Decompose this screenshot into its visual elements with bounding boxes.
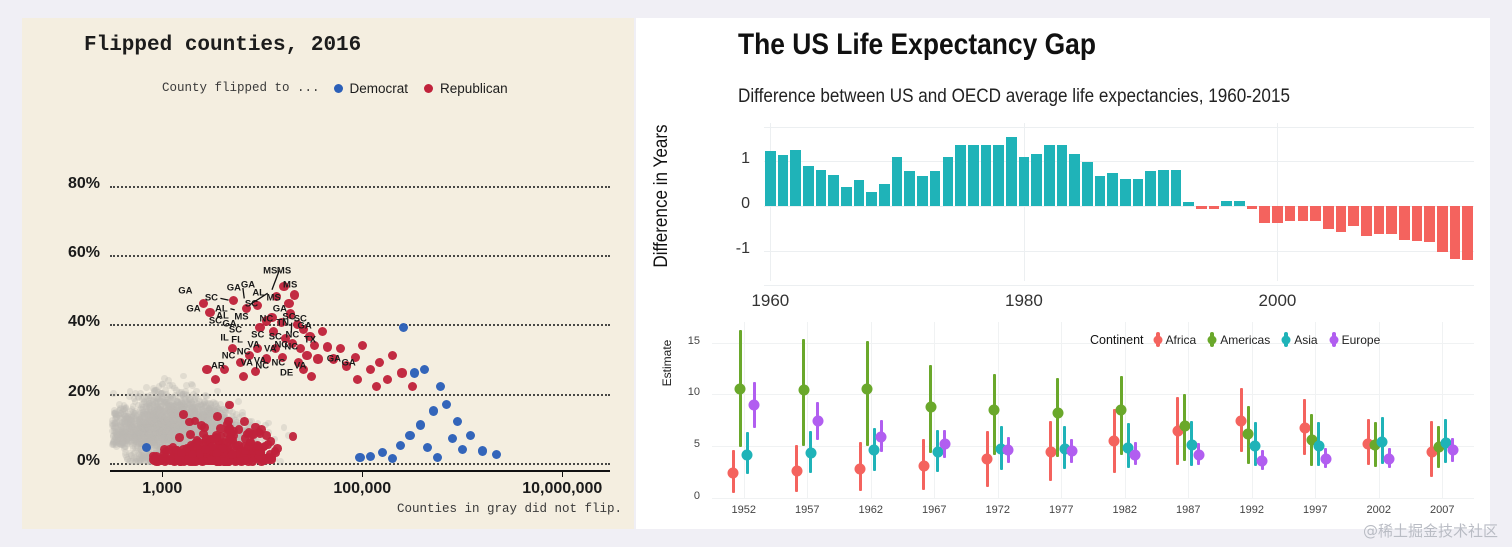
republican-flip-point <box>245 428 254 437</box>
republican-flip-point <box>246 438 255 447</box>
y-tick-label: 40% <box>68 313 100 331</box>
democrat-flip-point <box>478 446 487 455</box>
estimate-point <box>939 439 950 450</box>
republican-flip-point <box>179 410 188 419</box>
dot-x-tick-label: 2002 <box>1367 504 1391 516</box>
gray-county-point <box>111 407 118 414</box>
life-expectancy-subtitle: Difference between US and OECD average l… <box>738 86 1290 108</box>
bar-y-axis-label: Difference in Years <box>651 115 673 277</box>
dot-x-tick-label: 1972 <box>986 504 1010 516</box>
gap-bar <box>854 180 865 206</box>
republican-flip-point <box>366 365 375 374</box>
state-annotation: NC <box>272 357 286 368</box>
dot-x-tick-label: 1997 <box>1303 504 1327 516</box>
republican-flip-point <box>225 425 234 434</box>
dot-x-tick-label: 1987 <box>1176 504 1200 516</box>
gap-bar <box>1247 206 1258 209</box>
gap-bar-chart: Difference in Years -101196019802000 <box>636 123 1490 303</box>
gray-county-point <box>235 398 242 405</box>
state-annotation: NC <box>260 314 274 325</box>
screenshot-root: Flipped counties, 2016 County flipped to… <box>0 0 1512 547</box>
gap-bar <box>1374 206 1385 234</box>
dot-gridline <box>712 498 1474 499</box>
dot-gridline-vertical <box>1379 322 1380 498</box>
dot-x-tick-label: 1957 <box>795 504 819 516</box>
gap-bar <box>1348 206 1359 226</box>
gap-bar <box>1057 145 1068 206</box>
state-annotation: TX <box>304 335 316 346</box>
dot-gridline-vertical <box>807 322 808 498</box>
dot-y-tick-label: 5 <box>676 438 700 450</box>
gap-bar <box>1209 206 1220 209</box>
continent-estimate-chart: Estimate 0510151952195719621967197219771… <box>636 318 1490 529</box>
republican-flip-point <box>240 417 249 426</box>
gray-county-point <box>205 400 212 407</box>
gap-bar <box>1310 206 1321 221</box>
republican-flip-point <box>290 290 299 299</box>
dot-gridline-vertical <box>1442 322 1443 498</box>
bar-gridline <box>764 251 1474 252</box>
gap-bar <box>1183 202 1194 206</box>
gray-county-point <box>166 382 173 389</box>
state-annotation: VA <box>294 361 307 372</box>
republican-flip-point <box>289 432 298 441</box>
legend-item-americas: Americas <box>1210 332 1270 347</box>
state-annotation: MS <box>277 265 291 276</box>
state-annotation: GA <box>186 304 200 315</box>
state-annotation: SC <box>205 293 218 304</box>
dot-x-tick-label: 2007 <box>1430 504 1454 516</box>
y-tick-label: 20% <box>68 383 100 401</box>
state-annotation: GA <box>178 286 192 297</box>
dot-y-axis-label: Estimate <box>660 308 674 418</box>
gray-county-point <box>166 428 173 435</box>
republican-flip-point <box>408 382 417 391</box>
state-annotation: SC <box>251 329 264 340</box>
estimate-point <box>1116 405 1127 416</box>
democrat-flip-point <box>378 448 387 457</box>
estimate-point <box>876 431 887 442</box>
legend-item-europe: Europe <box>1332 332 1381 347</box>
gray-county-point <box>129 426 136 433</box>
gray-county-point <box>203 393 210 400</box>
life-expectancy-panel: The US Life Expectancy Gap Difference be… <box>636 18 1490 529</box>
estimate-point <box>1193 449 1204 460</box>
y-tick-label: 0% <box>77 452 100 470</box>
gap-bar <box>1323 206 1334 229</box>
americas-swatch <box>1210 332 1214 347</box>
gap-bar <box>790 150 801 206</box>
gap-bar <box>1272 206 1283 223</box>
gap-bar <box>904 171 915 206</box>
gray-county-point <box>200 412 207 419</box>
legend-item-asia: Asia <box>1284 332 1317 347</box>
gray-county-point <box>135 393 142 400</box>
democrat-flip-point <box>466 431 475 440</box>
gray-county-point <box>174 398 181 405</box>
republican-flip-point <box>318 327 327 336</box>
republican-flip-point <box>151 453 160 462</box>
annotation-leader-lines <box>22 18 634 529</box>
democrat-flip-point <box>453 417 462 426</box>
gap-bar <box>866 192 877 206</box>
dot-gridline-vertical <box>1188 322 1189 498</box>
gap-bar <box>1044 145 1055 206</box>
gap-bar <box>1424 206 1435 242</box>
gap-bar <box>1171 170 1182 206</box>
gap-bar <box>1412 206 1423 241</box>
democrat-flip-point <box>420 365 429 374</box>
republican-flip-point <box>197 421 206 430</box>
x-axis-line <box>110 470 610 472</box>
gap-bar <box>1120 179 1131 206</box>
continent-legend: Continent Africa Americas Asia Europe <box>1090 332 1394 347</box>
gap-bar <box>981 145 992 206</box>
bar-y-tick-label: 1 <box>724 150 750 168</box>
gap-bar <box>841 187 852 206</box>
republican-flip-point <box>388 351 397 360</box>
estimate-point <box>742 449 753 460</box>
republican-flip-point <box>336 344 345 353</box>
dot-gridline <box>712 446 1474 447</box>
watermark: @稀土掘金技术社区 <box>1363 520 1498 541</box>
estimate-point <box>791 466 802 477</box>
dot-x-tick-label: 1952 <box>732 504 756 516</box>
republican-flip-point <box>383 375 392 384</box>
x-tick-label: 100,000 <box>333 480 391 498</box>
estimate-point <box>989 405 1000 416</box>
republican-flip-point <box>353 375 362 384</box>
gray-county-point <box>133 455 140 462</box>
republican-flip-point <box>201 445 210 454</box>
republican-flip-point <box>375 358 384 367</box>
gap-bar <box>1031 154 1042 206</box>
republican-flip-point <box>307 372 316 381</box>
estimate-point <box>1299 422 1310 433</box>
bar-gridline <box>764 127 1474 128</box>
gray-county-point <box>126 393 133 400</box>
estimate-point <box>1313 441 1324 452</box>
gap-bar <box>943 157 954 206</box>
gap-bar <box>1082 162 1093 206</box>
republican-flip-point <box>211 375 220 384</box>
republican-flip-point <box>186 430 195 439</box>
state-annotation: FL <box>231 335 243 346</box>
estimate-point <box>1109 436 1120 447</box>
dot-x-tick-label: 1992 <box>1240 504 1264 516</box>
state-annotation: AL <box>252 288 265 299</box>
gap-bar <box>828 175 839 206</box>
bar-gridline-vertical <box>1277 123 1278 281</box>
dot-y-tick-label: 10 <box>676 386 700 398</box>
estimate-point <box>982 453 993 464</box>
republican-flip-point <box>189 442 198 451</box>
africa-swatch <box>1156 332 1160 347</box>
gap-bar <box>1133 179 1144 206</box>
democrat-flip-point <box>405 431 414 440</box>
gap-bar <box>1145 171 1156 206</box>
estimate-point <box>1066 446 1077 457</box>
gap-bar <box>892 157 903 206</box>
gap-bar <box>1298 206 1309 221</box>
gap-bar <box>1437 206 1448 252</box>
gray-county-point <box>191 398 198 405</box>
gap-bar <box>1336 206 1347 232</box>
gap-bar <box>1158 170 1169 206</box>
republican-flip-point <box>313 354 322 363</box>
republican-flip-point <box>213 412 222 421</box>
asia-swatch <box>1284 332 1288 347</box>
y-gridline <box>110 255 610 257</box>
gap-bar <box>803 166 814 206</box>
republican-flip-point <box>210 434 219 443</box>
bar-x-tick-label: 1980 <box>1005 291 1043 311</box>
republican-flip-point <box>302 351 311 360</box>
gap-bar <box>1006 137 1017 206</box>
gap-bar <box>765 151 776 206</box>
legend-item-africa: Africa <box>1156 332 1197 347</box>
bar-x-tick-label: 2000 <box>1259 291 1297 311</box>
state-annotation: VA <box>241 357 254 368</box>
dot-gridline-vertical <box>871 322 872 498</box>
republican-flip-point <box>235 425 244 434</box>
state-annotation: GA <box>227 283 241 294</box>
state-annotation: NC <box>284 341 298 352</box>
gray-county-point <box>193 388 200 395</box>
democrat-flip-point <box>429 406 438 415</box>
democrat-flip-point <box>433 453 442 462</box>
dot-x-tick-label: 1982 <box>1113 504 1137 516</box>
gap-bar <box>1196 206 1207 209</box>
republican-flip-point <box>239 372 248 381</box>
democrat-flip-point <box>399 323 408 332</box>
gap-bar <box>778 155 789 206</box>
estimate-point <box>862 384 873 395</box>
gap-bar <box>1450 206 1461 259</box>
state-annotation: GA <box>341 357 355 368</box>
republican-flip-point <box>323 342 332 351</box>
estimate-point <box>1447 445 1458 456</box>
bar-y-tick-label: -1 <box>724 240 750 258</box>
dot-gridline-vertical <box>1315 322 1316 498</box>
legend-label-asia: Asia <box>1294 333 1317 347</box>
estimate-point <box>1257 455 1268 466</box>
republican-flip-point <box>397 368 406 377</box>
democrat-flip-point <box>396 441 405 450</box>
y-tick-label: 80% <box>68 175 100 193</box>
republican-flip-point <box>220 457 229 466</box>
continent-legend-title: Continent <box>1090 333 1144 347</box>
dot-x-tick-label: 1967 <box>922 504 946 516</box>
republican-flip-point <box>372 382 381 391</box>
gap-bar <box>1259 206 1270 223</box>
dot-gridline-vertical <box>1252 322 1253 498</box>
estimate-point <box>735 384 746 395</box>
estimate-point <box>749 399 760 410</box>
dot-x-tick-label: 1977 <box>1049 504 1073 516</box>
gap-bar <box>1069 154 1080 206</box>
democrat-flip-point <box>423 443 432 452</box>
legend-label-americas: Americas <box>1220 333 1270 347</box>
dot-y-tick-label: 0 <box>676 490 700 502</box>
gap-bar <box>1399 206 1410 240</box>
scatter-caption: Counties in gray did not flip. <box>397 502 622 516</box>
republican-flip-point <box>358 341 367 350</box>
state-annotation: NC <box>255 361 269 372</box>
estimate-point <box>1243 428 1254 439</box>
gap-bar <box>917 176 928 206</box>
legend-label-africa: Africa <box>1166 333 1197 347</box>
gap-bar <box>1462 206 1473 260</box>
gray-county-point <box>180 373 187 380</box>
flipped-counties-panel: Flipped counties, 2016 County flipped to… <box>22 18 634 529</box>
gray-county-point <box>159 395 166 402</box>
republican-flip-point <box>228 450 237 459</box>
estimate-point <box>1003 445 1014 456</box>
state-annotation: VA <box>264 343 277 354</box>
estimate-point <box>1250 441 1261 452</box>
gray-county-point <box>164 416 171 423</box>
estimate-point <box>1045 447 1056 458</box>
dot-x-tick-label: 1962 <box>859 504 883 516</box>
life-expectancy-title: The US Life Expectancy Gap <box>738 28 1096 62</box>
gray-county-point <box>128 418 135 425</box>
dot-gridline-vertical <box>744 322 745 498</box>
state-annotation: AR <box>211 361 225 372</box>
state-annotation: MS <box>283 279 297 290</box>
democrat-flip-point <box>416 420 425 429</box>
gap-bar <box>955 145 966 206</box>
estimate-point <box>798 385 809 396</box>
state-annotation: MS <box>234 312 248 323</box>
gap-bar <box>1019 157 1030 206</box>
x-tick-label: 1,000 <box>142 480 182 498</box>
republican-flip-point <box>267 437 276 446</box>
gray-county-point <box>116 401 123 408</box>
republican-flip-point <box>229 296 238 305</box>
estimate-point <box>869 445 880 456</box>
republican-flip-point <box>175 433 184 442</box>
gap-bar <box>1234 201 1245 206</box>
gap-bar <box>1361 206 1372 236</box>
gap-bar <box>1386 206 1397 234</box>
x-tick-label: 10,000,000 <box>522 480 602 498</box>
gray-county-point <box>175 422 182 429</box>
estimate-point <box>925 401 936 412</box>
bar-gridline <box>764 285 1474 286</box>
gap-bar <box>930 171 941 206</box>
estimate-point <box>1320 453 1331 464</box>
legend-label-europe: Europe <box>1342 333 1381 347</box>
gray-county-point <box>281 424 288 431</box>
estimate-point <box>1384 453 1395 464</box>
gap-bar <box>879 184 890 206</box>
gap-bar <box>1095 176 1106 206</box>
state-annotation: IL <box>220 333 228 344</box>
gray-county-point <box>277 458 284 465</box>
estimate-point <box>805 448 816 459</box>
dot-gridline <box>712 394 1474 395</box>
state-annotation: NC <box>237 347 251 358</box>
gap-bar <box>968 145 979 206</box>
republican-flip-point <box>225 435 234 444</box>
state-annotation: MS <box>267 293 281 304</box>
gray-county-point <box>110 390 117 397</box>
gap-bar <box>816 170 827 206</box>
democrat-flip-point <box>410 368 419 377</box>
y-tick-label: 60% <box>68 244 100 262</box>
democrat-flip-point <box>442 400 451 409</box>
estimate-point <box>1052 408 1063 419</box>
dot-y-tick-label: 15 <box>676 335 700 347</box>
estimate-point <box>1179 420 1190 431</box>
democrat-flip-point <box>436 382 445 391</box>
y-gridline <box>110 324 610 326</box>
gap-bar <box>1107 173 1118 206</box>
europe-swatch <box>1332 332 1336 347</box>
state-annotation: SC <box>229 324 242 335</box>
democrat-flip-point <box>448 434 457 443</box>
estimate-point <box>1130 449 1141 460</box>
democrat-flip-point <box>366 452 375 461</box>
state-annotation: DE <box>280 367 293 378</box>
estimate-point <box>812 416 823 427</box>
republican-flip-point <box>248 457 257 466</box>
gray-county-point <box>206 407 213 414</box>
democrat-flip-point <box>492 450 501 459</box>
gray-county-point <box>109 441 116 448</box>
gap-bar <box>1221 201 1232 206</box>
gray-county-point <box>129 442 136 449</box>
state-annotation: GA <box>297 321 311 332</box>
gray-county-point <box>163 402 170 409</box>
bar-gridline <box>764 161 1474 162</box>
gap-bar <box>1285 206 1296 221</box>
estimate-point <box>855 464 866 475</box>
democrat-flip-point <box>458 445 467 454</box>
state-annotation: GA <box>327 354 341 365</box>
state-annotation: NC <box>222 350 236 361</box>
y-gridline <box>110 186 610 188</box>
scatter-plot: 0%20%40%60%80%1,000100,00010,000,000GAGA… <box>22 18 634 529</box>
bar-y-tick-label: 0 <box>724 195 750 213</box>
state-annotation: MS <box>263 265 277 276</box>
state-annotation: SC <box>245 298 258 309</box>
gap-bar <box>993 145 1004 206</box>
bar-x-tick-label: 1960 <box>751 291 789 311</box>
state-annotation: TN <box>276 317 289 328</box>
estimate-point <box>1377 437 1388 448</box>
estimate-point <box>918 460 929 471</box>
estimate-point <box>1236 416 1247 427</box>
state-annotation: NC <box>286 329 300 340</box>
democrat-flip-point <box>355 453 364 462</box>
estimate-point <box>728 468 739 479</box>
gray-county-point <box>143 384 150 391</box>
